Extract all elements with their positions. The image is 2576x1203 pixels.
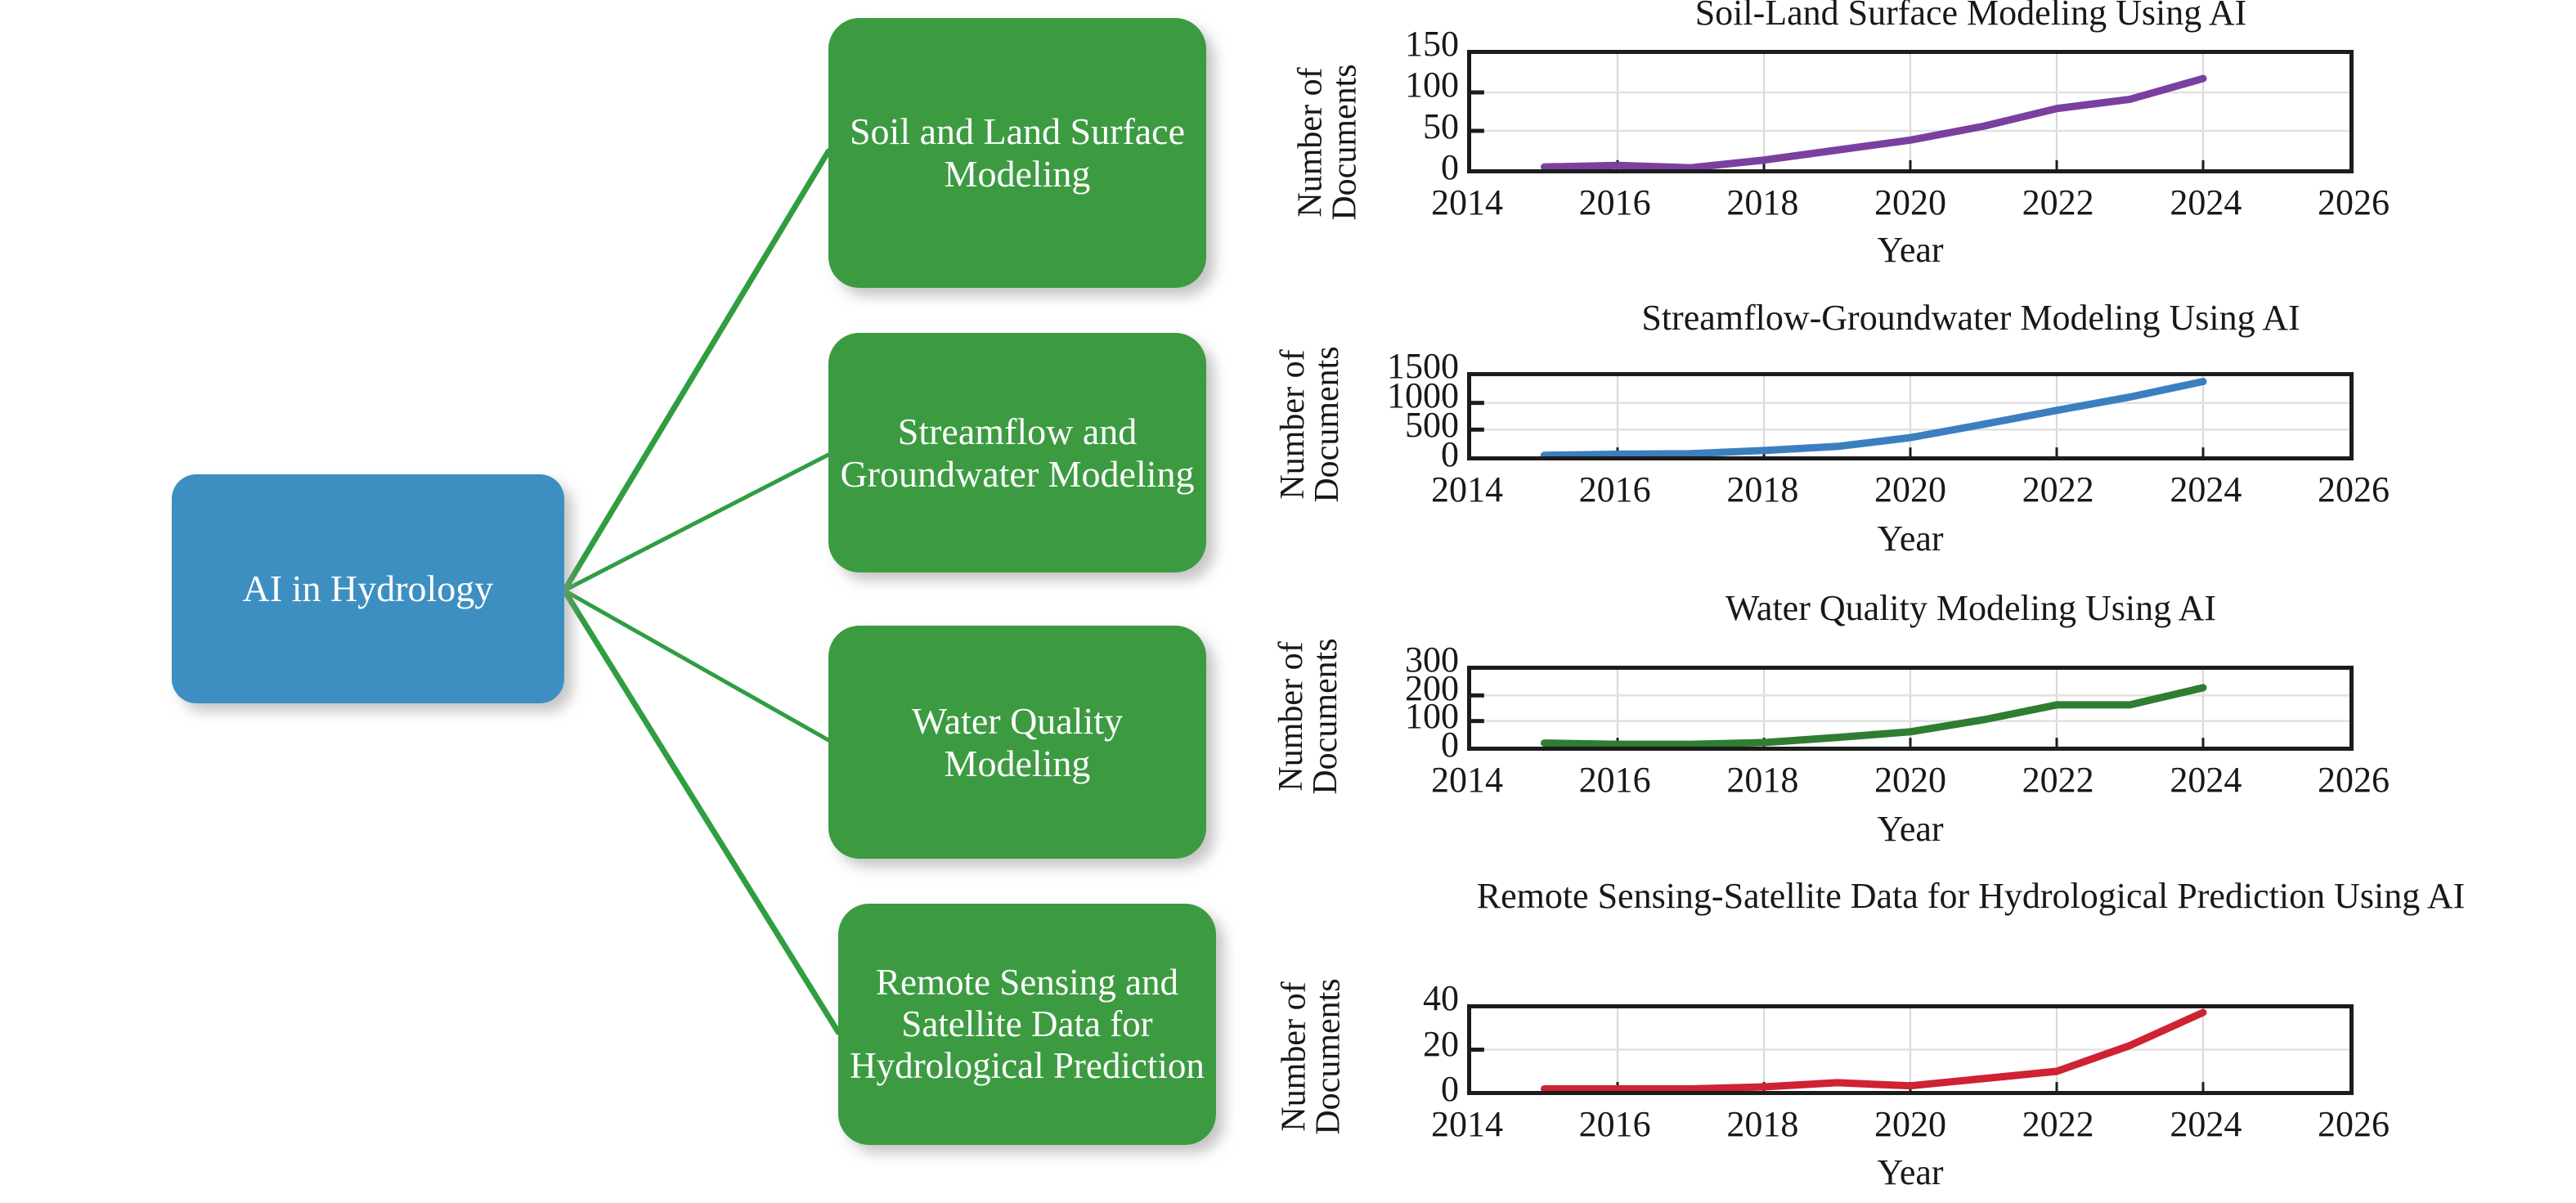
- y-tick-label: 300: [1295, 639, 1459, 680]
- leaf-node-label: Water Quality Modeling: [837, 700, 1198, 785]
- chart-title: Soil-Land Surface Modeling Using AI: [1464, 0, 2478, 32]
- connector-line-2: [564, 590, 828, 740]
- x-tick-label: 2024: [2140, 759, 2271, 801]
- plot-area: [1467, 1004, 2354, 1095]
- x-tick-label: 2016: [1550, 759, 1681, 801]
- x-tick-label: 2020: [1845, 182, 1976, 223]
- leaf-node-label: Remote Sensing and Satellite Data for Hy…: [846, 962, 1208, 1087]
- plot-canvas: [1471, 376, 2349, 456]
- x-tick-label: 2026: [2288, 182, 2419, 223]
- x-tick-label: 2022: [1993, 1103, 2124, 1145]
- plot-area: [1467, 666, 2354, 751]
- chart-soil-land-surface: Soil-Land Surface Modeling Using AINumbe…: [1259, 0, 2568, 278]
- x-tick-label: 2014: [1402, 759, 1533, 801]
- x-tick-label: 2024: [2140, 1103, 2271, 1145]
- leaf-node-label: Streamflow and Groundwater Modeling: [837, 411, 1198, 496]
- x-tick-label: 2018: [1697, 182, 1828, 223]
- leaf-node-soil-and-land-surface-modeling[interactable]: Soil and Land Surface Modeling: [828, 18, 1206, 288]
- chart-water-quality: Water Quality Modeling Using AINumber of…: [1259, 572, 2568, 863]
- x-tick-label: 2026: [2288, 759, 2419, 801]
- data-series-line: [1544, 382, 2202, 456]
- plot-area: [1467, 372, 2354, 460]
- plot-canvas: [1471, 1008, 2349, 1091]
- x-axis-label: Year: [1467, 229, 2354, 271]
- x-tick-label: 2018: [1697, 469, 1828, 510]
- y-tick-label: 50: [1295, 105, 1459, 147]
- leaf-node-water-quality-modeling[interactable]: Water Quality Modeling: [828, 626, 1206, 859]
- figure-canvas: AI in Hydrology Soil and Land Surface Mo…: [0, 0, 2576, 1203]
- chart-title: Streamflow-Groundwater Modeling Using AI: [1464, 300, 2478, 337]
- x-tick-label: 2026: [2288, 469, 2419, 510]
- plot-area: [1467, 50, 2354, 173]
- chart-title: Remote Sensing-Satellite Data for Hydrol…: [1464, 878, 2478, 915]
- x-tick-label: 2020: [1845, 759, 1976, 801]
- root-node-ai-in-hydrology[interactable]: AI in Hydrology: [172, 474, 564, 703]
- chart-streamflow-groundwater: Streamflow-Groundwater Modeling Using AI…: [1259, 282, 2568, 572]
- x-tick-label: 2024: [2140, 469, 2271, 510]
- x-tick-label: 2014: [1402, 1103, 1533, 1145]
- x-tick-label: 2020: [1845, 1103, 1976, 1145]
- x-axis-label: Year: [1467, 518, 2354, 559]
- x-tick-label: 2020: [1845, 469, 1976, 510]
- plot-canvas: [1471, 54, 2349, 169]
- chart-remote-sensing: Remote Sensing-Satellite Data for Hydrol…: [1259, 867, 2568, 1203]
- y-tick-label: 1500: [1295, 345, 1459, 387]
- plot-canvas: [1471, 670, 2349, 747]
- x-tick-label: 2014: [1402, 182, 1533, 223]
- x-tick-label: 2016: [1550, 1103, 1681, 1145]
- x-tick-label: 2018: [1697, 759, 1828, 801]
- x-tick-label: 2018: [1697, 1103, 1828, 1145]
- y-tick-label: 100: [1295, 64, 1459, 105]
- x-tick-label: 2016: [1550, 182, 1681, 223]
- x-tick-label: 2026: [2288, 1103, 2419, 1145]
- y-tick-label: 40: [1295, 977, 1459, 1019]
- connector-line-3: [564, 590, 838, 1032]
- leaf-node-remote-sensing-and-satellite-data[interactable]: Remote Sensing and Satellite Data for Hy…: [838, 904, 1216, 1145]
- x-tick-label: 2024: [2140, 182, 2271, 223]
- x-tick-label: 2022: [1993, 182, 2124, 223]
- root-node-label: AI in Hydrology: [243, 568, 494, 610]
- leaf-node-label: Soil and Land Surface Modeling: [837, 110, 1198, 195]
- y-tick-label: 20: [1295, 1023, 1459, 1065]
- x-tick-label: 2022: [1993, 759, 2124, 801]
- leaf-node-streamflow-and-groundwater-modeling[interactable]: Streamflow and Groundwater Modeling: [828, 333, 1206, 572]
- chart-title: Water Quality Modeling Using AI: [1464, 590, 2478, 627]
- x-axis-label: Year: [1467, 808, 2354, 850]
- y-tick-label: 150: [1295, 23, 1459, 65]
- x-tick-label: 2016: [1550, 469, 1681, 510]
- x-axis-label: Year: [1467, 1151, 2354, 1193]
- x-tick-label: 2014: [1402, 469, 1533, 510]
- x-tick-label: 2022: [1993, 469, 2124, 510]
